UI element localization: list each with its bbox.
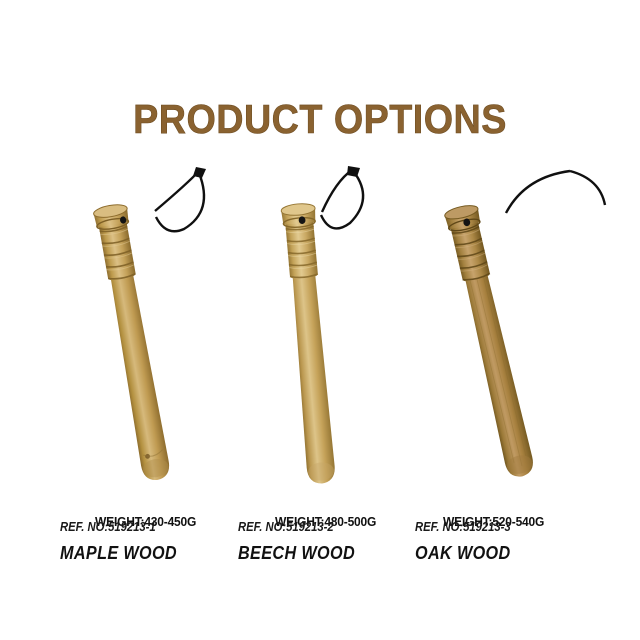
name-label-beech: BEECH WOOD bbox=[238, 543, 355, 564]
ref-label-maple: REF. NO:519213-1 bbox=[60, 520, 156, 534]
baton-shaft bbox=[104, 252, 171, 482]
baton-shaft bbox=[458, 252, 536, 479]
cord-knot bbox=[347, 166, 360, 177]
product-image-oak bbox=[395, 165, 585, 520]
product-card-oak: WEIGHT:520-540G REF. NO:519213-3 OAK WOO… bbox=[395, 165, 585, 585]
baton-shaft bbox=[288, 252, 336, 485]
page-title: PRODUCT OPTIONS bbox=[26, 96, 615, 143]
ref-label-oak: REF. NO:519213-3 bbox=[415, 520, 511, 534]
product-options-page: PRODUCT OPTIONS bbox=[0, 0, 640, 640]
product-card-maple: WEIGHT:430-450G REF. NO:519213-1 MAPLE W… bbox=[38, 165, 228, 585]
name-label-oak: OAK WOOD bbox=[415, 543, 511, 564]
wrist-cord bbox=[506, 171, 605, 213]
ref-label-beech: REF. NO:519213-2 bbox=[238, 520, 334, 534]
product-image-maple bbox=[38, 165, 228, 520]
wrist-cord bbox=[321, 166, 363, 228]
cord-knot bbox=[193, 167, 206, 178]
product-card-beech: WEIGHT:480-500G REF. NO:519213-2 BEECH W… bbox=[218, 165, 408, 585]
wrist-cord bbox=[155, 167, 206, 231]
name-label-maple: MAPLE WOOD bbox=[60, 543, 177, 564]
product-image-beech bbox=[218, 165, 408, 520]
